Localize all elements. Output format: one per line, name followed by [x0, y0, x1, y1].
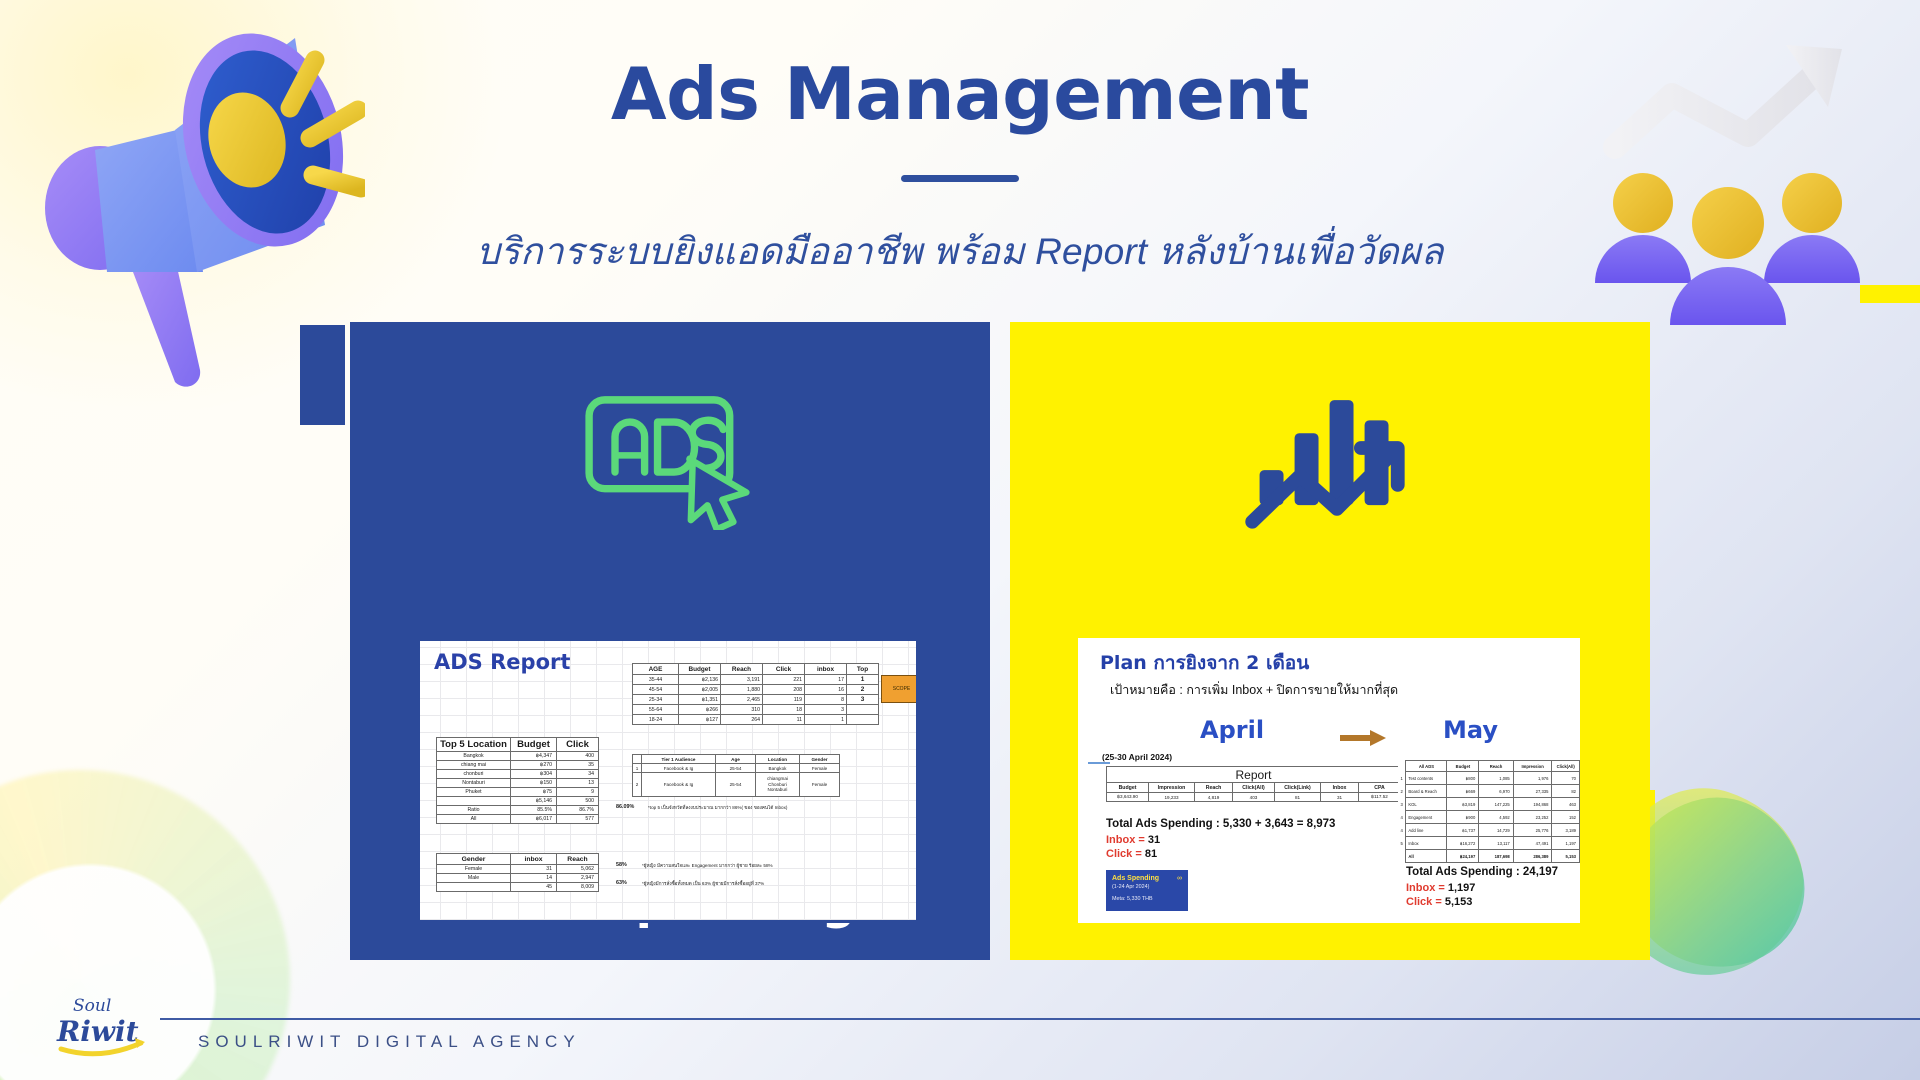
note-pct-0: 86.09%	[616, 804, 634, 810]
april-report-table: Report Budget Impression Reach Click(All…	[1106, 766, 1401, 802]
table-row: 5Inbox฿16,27213,11747,4911,197	[1398, 837, 1580, 850]
table-row: Female315,062	[437, 865, 599, 874]
may-click-label: Click =	[1406, 896, 1445, 908]
table-row: 1Test contents฿8001,0851,97670	[1398, 772, 1580, 785]
april-click-row: Click = 81	[1106, 848, 1335, 860]
audience-growth-3d-illustration	[1580, 25, 1920, 325]
table-row: 25-34฿1,3512,46511983	[633, 695, 879, 705]
megaphone-3d-illustration	[25, 10, 365, 410]
col-budget: Budget	[1447, 761, 1479, 772]
table-row: 45-54฿2,0051,880208162	[633, 685, 879, 695]
meta-icon: ∞	[1177, 875, 1182, 882]
table-row: ฿3,643.90 19,233 4,819 403 81 31 ฿117.52	[1107, 793, 1401, 802]
spend-box-date: (1-24 Apr 2024)	[1112, 884, 1182, 890]
table-row: 55-64฿266310183	[633, 705, 879, 715]
month-label-april: April	[1200, 716, 1264, 744]
april-total-spending: Total Ads Spending : 5,330 + 3,643 = 8,9…	[1106, 818, 1335, 830]
april-inbox-row: Inbox = 31	[1106, 834, 1335, 846]
col-inbox: inbox	[805, 664, 847, 675]
april-report-caption: Report	[1107, 767, 1401, 783]
table-row: 1Facebook & Ig25-54BangkokFemale	[633, 764, 840, 773]
col-top: Top	[847, 664, 879, 675]
col-inbox: inbox	[511, 854, 557, 865]
col-age: Age	[716, 755, 756, 764]
table-row: All฿6,017577	[437, 815, 599, 824]
blue-tick-accent	[1088, 762, 1110, 764]
scope-highlight-box: SCOPE	[881, 675, 919, 703]
table-row: 2Facebook & Ig25-54chiangmai Chonburi No…	[633, 773, 840, 797]
tier1-audience-table: Tier 1 Audience Age Location Gender 1Fac…	[632, 754, 840, 797]
table-row: 458,009	[437, 883, 599, 892]
may-inbox-value: 1,197	[1448, 882, 1476, 894]
table-row: chonburi฿30434	[437, 770, 599, 779]
april-inbox-label: Inbox =	[1106, 834, 1148, 846]
table-row: 3KOL฿3,819147,225194,868463	[1398, 798, 1580, 811]
plan-report-screenshot[interactable]: Plan การยิงจาก 2 เดือน เป้าหมายคือ : การ…	[1078, 638, 1580, 923]
col-reach: Reach	[1479, 761, 1513, 772]
right-arrow-icon	[1340, 730, 1386, 746]
col-reach: Reach	[721, 664, 763, 675]
note-text-2: *ผู้หญิงมีการสั่งซื้อทั้งหมด เป็น 63% ผู…	[642, 881, 832, 888]
col-index	[633, 755, 642, 764]
col-impression: Impression	[1149, 783, 1195, 793]
april-click-label: Click =	[1106, 848, 1145, 860]
col-reach: Reach	[557, 854, 599, 865]
may-inbox-label: Inbox =	[1406, 882, 1448, 894]
may-total-spending: Total Ads Spending : 24,197	[1406, 866, 1558, 878]
plan-report-goal: เป้าหมายคือ : การเพิ่ม Inbox + ปิดการขาย…	[1110, 680, 1398, 700]
april-inbox-value: 31	[1148, 834, 1160, 846]
may-inbox-row: Inbox = 1,197	[1406, 882, 1558, 894]
note-text-0: *top 5 เป็นจังหวัดที่ลงงบประมาณ มากกว่า …	[648, 805, 898, 812]
table-row: Ratio85.5%86.7%	[437, 806, 599, 815]
col-audience: Tier 1 Audience	[642, 755, 716, 764]
col-cpa: CPA	[1359, 783, 1401, 793]
col-budget: Budget	[679, 664, 721, 675]
table-row: Male142,947	[437, 874, 599, 883]
table-header-row: Tier 1 Audience Age Location Gender	[633, 755, 840, 764]
table-header-row: Top 5 Location Budget Click	[437, 738, 599, 752]
table-caption-row: Report	[1107, 767, 1401, 783]
april-totals: Total Ads Spending : 5,330 + 3,643 = 8,9…	[1106, 818, 1335, 862]
age-table: AGE Budget Reach Click inbox Top 35-44฿2…	[632, 663, 879, 725]
col-click: Click	[557, 738, 599, 752]
table-header-row: AGE Budget Reach Click inbox Top	[633, 664, 879, 675]
col-budget: Budget	[511, 738, 557, 752]
col-location: Location	[756, 755, 800, 764]
col-location: Top 5 Location	[437, 738, 511, 752]
spend-box-title: Ads Spending	[1112, 875, 1182, 882]
title-divider	[901, 175, 1019, 182]
col-budget: Budget	[1107, 783, 1149, 793]
table-total-row: All฿24,197187,698286,3895,153	[1398, 850, 1580, 863]
april-date-range: (25-30 April 2024)	[1102, 752, 1172, 762]
april-click-value: 81	[1145, 848, 1157, 860]
ads-report-screenshot[interactable]: ADS Report AGE Budget Reach Click inbox …	[417, 638, 919, 923]
soulriwit-logo[interactable]: Soul Riwit	[55, 985, 165, 1060]
col-reach: Reach	[1195, 783, 1233, 793]
ads-cursor-icon	[350, 367, 990, 552]
col-click: Click	[763, 664, 805, 675]
col-age: AGE	[633, 664, 679, 675]
bar-chart-arrow-icon	[1010, 367, 1650, 552]
col-all-ads: All ADS	[1406, 761, 1447, 772]
col-impression: Impression	[1513, 761, 1552, 772]
col-gender: Gender	[437, 854, 511, 865]
footer-divider	[160, 1018, 1920, 1020]
note-pct-2: 63%	[616, 880, 627, 886]
table-row: ฿5,146500	[437, 797, 599, 806]
table-row: Phuket฿759	[437, 788, 599, 797]
logo-soul-text: Soul	[73, 996, 111, 1016]
col-click-link: Click(Link)	[1275, 783, 1321, 793]
table-header-row: Gender inbox Reach	[437, 854, 599, 865]
note-pct-1: 58%	[616, 862, 627, 868]
ads-spending-meta-box: ∞ Ads Spending (1-24 Apr 2024) Meta: 5,3…	[1106, 870, 1188, 911]
logo-riwit-text: Riwit	[56, 1015, 139, 1048]
col-gender: Gender	[800, 755, 840, 764]
may-totals: Total Ads Spending : 24,197 Inbox = 1,19…	[1406, 866, 1558, 910]
may-click-row: Click = 5,153	[1406, 896, 1558, 908]
footer-agency-name: SOULRIWIT DIGITAL AGENCY	[198, 1032, 581, 1052]
table-row: Bangkok฿4,347400	[437, 752, 599, 761]
ads-report-title: ADS Report	[434, 650, 570, 674]
spend-box-meta: Meta: 5,330 THB	[1112, 896, 1182, 902]
table-row: 4Engagement฿9004,59223,252152	[1398, 811, 1580, 824]
may-ads-table: All ADS Budget Reach Impression Click(Al…	[1398, 760, 1580, 863]
table-header-row: All ADS Budget Reach Impression Click(Al…	[1398, 761, 1580, 772]
top-location-table: Top 5 Location Budget Click Bangkok฿4,34…	[436, 737, 599, 824]
table-header-row: Budget Impression Reach Click(All) Click…	[1107, 783, 1401, 793]
table-row: 18-24฿127264111	[633, 715, 879, 725]
month-label-may: May	[1443, 716, 1498, 744]
gender-table: Gender inbox Reach Female315,062 Male142…	[436, 853, 599, 892]
note-text-1: *ผู้หญิง มีความสนใจและ Engagement มากกว่…	[642, 863, 892, 870]
col-click-all: Click(All)	[1552, 761, 1580, 772]
plan-report-title: Plan การยิงจาก 2 เดือน	[1100, 648, 1309, 678]
table-row: 4Add line฿1,73714,72925,7763,189	[1398, 824, 1580, 837]
may-click-value: 5,153	[1445, 896, 1473, 908]
table-row: chiang mai฿27035	[437, 761, 599, 770]
table-row: Nontaburi฿15013	[437, 779, 599, 788]
col-click-all: Click(All)	[1233, 783, 1275, 793]
col-inbox: Inbox	[1321, 783, 1359, 793]
table-row: 35-44฿2,1363,191221171	[633, 675, 879, 685]
table-row: 2Board & Reach฿6696,97027,33582	[1398, 785, 1580, 798]
